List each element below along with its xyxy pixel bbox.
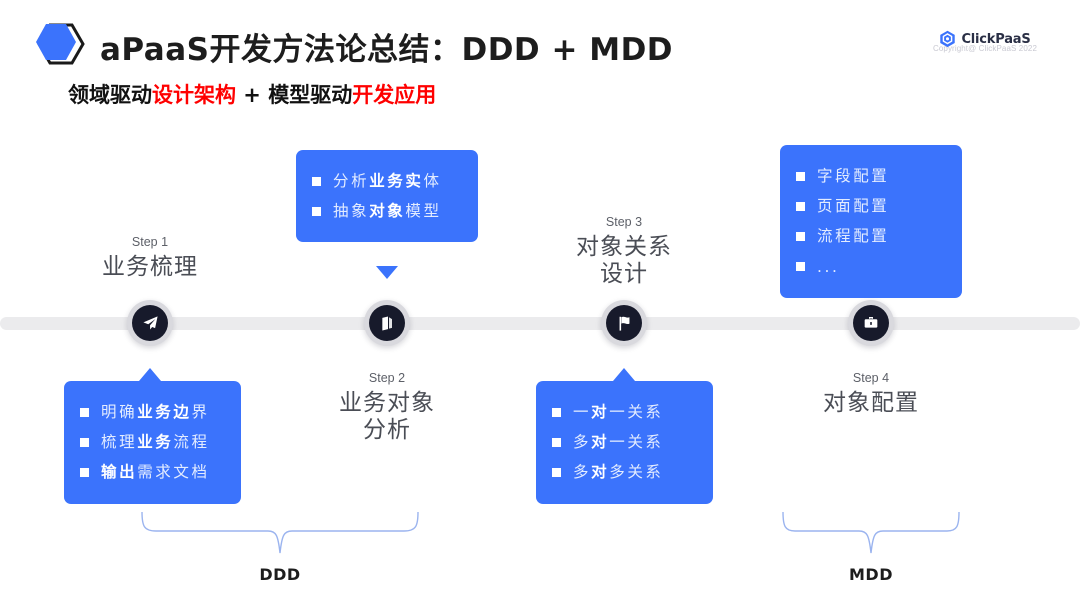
step-3-title-line-1: 对象关系: [509, 234, 739, 261]
card-tail-step-1: [139, 368, 161, 381]
bullet-square-icon: [796, 262, 805, 271]
hexagon-logo-icon: [34, 22, 86, 66]
bullet-square-icon: [552, 468, 561, 477]
card-tail-step-3: [613, 368, 635, 381]
page-subtitle: 领域驱动设计架构 + 模型驱动开发应用: [68, 79, 436, 109]
timeline-node-step-3[interactable]: [601, 300, 647, 346]
step-3-title-line-2: 设计: [509, 261, 739, 288]
bullet-square-icon: [796, 172, 805, 181]
card-item-text: 明确业务边界: [101, 397, 210, 427]
card-item: 一对一关系: [552, 397, 695, 427]
brand-lockup: ClickPaaS Copyright@ ClickPaaS 2022: [920, 30, 1050, 53]
card-item: 页面配置: [796, 191, 944, 221]
step-4-title: 对象配置: [756, 390, 986, 417]
card-item-text: 抽象对象模型: [333, 196, 442, 226]
bullet-square-icon: [80, 468, 89, 477]
timeline-node-step-4[interactable]: [848, 300, 894, 346]
brace-mdd: [781, 510, 961, 555]
step-label-4: Step 4 对象配置: [756, 370, 986, 417]
brace-ddd: [140, 510, 420, 555]
card-item: 流程配置: [796, 221, 944, 251]
card-step-3: 一对一关系 多对一关系 多对多关系: [536, 381, 713, 504]
card-item-text: 字段配置: [817, 161, 889, 191]
step-3-number: Step 3: [509, 214, 739, 231]
card-item-text: 多对一关系: [573, 427, 664, 457]
card-item: 明确业务边界: [80, 397, 223, 427]
subtitle-part-1: 领域驱动: [68, 83, 152, 107]
timeline-node-step-1[interactable]: [127, 300, 173, 346]
bullet-square-icon: [796, 202, 805, 211]
card-step-2: 分析业务实体 抽象对象模型: [296, 150, 478, 242]
bullet-square-icon: [80, 408, 89, 417]
bullet-square-icon: [80, 438, 89, 447]
brace-label-mdd: MDD: [771, 565, 971, 584]
subtitle-part-3: +: [236, 83, 268, 107]
step-1-number: Step 1: [35, 234, 265, 251]
step-2-title-line-1: 业务对象: [272, 390, 502, 417]
step-4-number: Step 4: [756, 370, 986, 387]
bullet-square-icon: [796, 232, 805, 241]
book-icon: [369, 305, 405, 341]
card-item-text: 多对多关系: [573, 457, 664, 487]
bullet-square-icon: [312, 177, 321, 186]
step-2-number: Step 2: [272, 370, 502, 387]
card-item: 分析业务实体: [312, 166, 460, 196]
card-item: 多对多关系: [552, 457, 695, 487]
card-item: 输出需求文档: [80, 457, 223, 487]
card-item-text: 页面配置: [817, 191, 889, 221]
subtitle-part-4: 模型驱动: [268, 83, 352, 107]
step-label-1: Step 1 业务梳理: [35, 234, 265, 281]
subtitle-part-2: 设计架构: [152, 83, 236, 107]
card-item-text: 梳理业务流程: [101, 427, 210, 457]
card-tail-step-2: [376, 266, 398, 279]
card-item-text: ...: [817, 252, 840, 282]
page-title: aPaaS开发方法论总结：DDD + MDD: [100, 24, 673, 69]
card-item-text: 分析业务实体: [333, 166, 442, 196]
flag-icon: [606, 305, 642, 341]
briefcase-icon: [853, 305, 889, 341]
brace-label-ddd: DDD: [180, 565, 380, 584]
brand-copyright: Copyright@ ClickPaaS 2022: [920, 44, 1050, 53]
card-step-1: 明确业务边界 梳理业务流程 输出需求文档: [64, 381, 241, 504]
subtitle-part-5: 开发应用: [352, 83, 436, 107]
card-item: 抽象对象模型: [312, 196, 460, 226]
card-item-text: 一对一关系: [573, 397, 664, 427]
bullet-square-icon: [552, 408, 561, 417]
timeline-node-step-2[interactable]: [364, 300, 410, 346]
bullet-square-icon: [552, 438, 561, 447]
bullet-square-icon: [312, 207, 321, 216]
step-label-2: Step 2 业务对象 分析: [272, 370, 502, 444]
card-tail-step-4: [860, 270, 882, 283]
card-item: 多对一关系: [552, 427, 695, 457]
card-item: 梳理业务流程: [80, 427, 223, 457]
card-item: 字段配置: [796, 161, 944, 191]
card-item-text: 输出需求文档: [101, 457, 210, 487]
step-1-title: 业务梳理: [35, 254, 265, 281]
step-label-3: Step 3 对象关系 设计: [509, 214, 739, 288]
paper-plane-icon: [132, 305, 168, 341]
card-item-text: 流程配置: [817, 221, 889, 251]
step-2-title-line-2: 分析: [272, 417, 502, 444]
